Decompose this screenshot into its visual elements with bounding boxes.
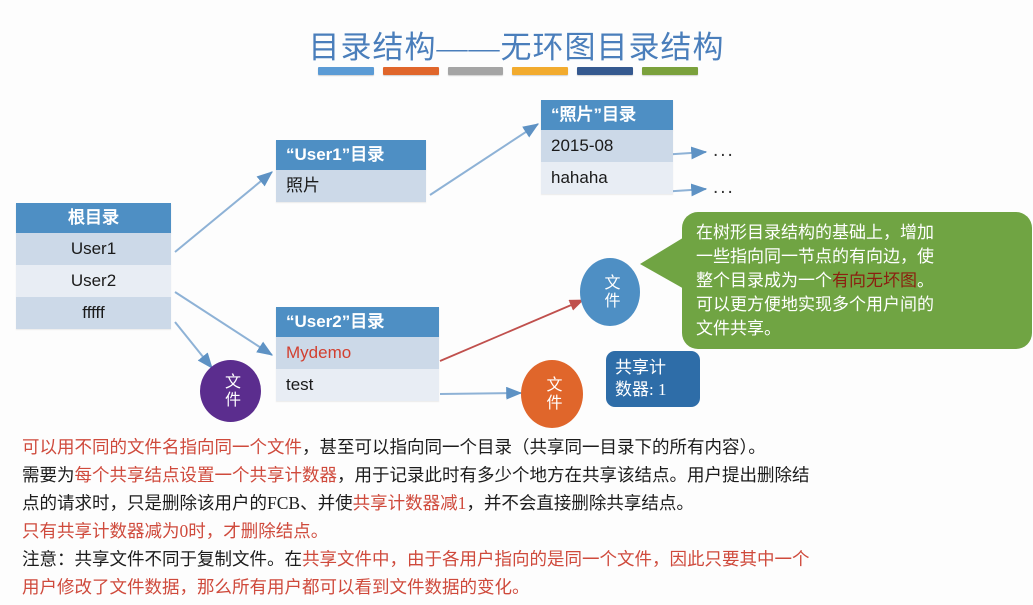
notes-line-2-black-a: 需要为 bbox=[22, 465, 75, 485]
accent-bar-1 bbox=[318, 67, 374, 75]
ellipsis-node-2: ... bbox=[713, 183, 735, 193]
callout-line-3-pre: 整个目录成为一个 bbox=[696, 271, 832, 290]
ellipsis-node-1: ... bbox=[713, 146, 735, 156]
title-accent-bars bbox=[318, 67, 698, 76]
notes-line-6-red: 用户修改了文件数据，那么所有用户都可以看到文件数据的变化。 bbox=[22, 577, 530, 597]
notes-paragraph: 可以用不同的文件名指向同一个文件，甚至可以指向同一个目录（共享同一目录下的所有内… bbox=[22, 433, 1017, 601]
purple-file-label: 文件 bbox=[222, 373, 239, 409]
notes-line-4-red: 只有共享计数器减为0时，才删除结点。 bbox=[22, 521, 328, 541]
callout-bubble: 在树形目录结构的基础上，增加 一些指向同一节点的有向边，使 整个目录成为一个有向… bbox=[682, 212, 1032, 349]
notes-line-2-black-b: ，用于记录此时有多少个地方在共享该结点。用户提出删除结 bbox=[337, 465, 810, 485]
notes-line-2-red: 每个共享结点设置一个共享计数器 bbox=[75, 465, 338, 485]
photo-directory-row-2015-08[interactable]: 2015-08 bbox=[541, 130, 673, 162]
notes-line-3-black-a: 点的请求时，只是删除该用户的FCB、并使 bbox=[22, 493, 353, 513]
accent-bar-2 bbox=[383, 67, 439, 75]
callout-highlight-term: 有向无坏图 bbox=[832, 271, 917, 290]
notes-line-6: 用户修改了文件数据，那么所有用户都可以看到文件数据的变化。 bbox=[22, 573, 1017, 601]
notes-line-4: 只有共享计数器减为0时，才删除结点。 bbox=[22, 517, 1017, 545]
root-directory-header: 根目录 bbox=[16, 203, 171, 233]
blue-file-label: 文件 bbox=[602, 274, 619, 310]
callout-line-3: 整个目录成为一个有向无坏图。 bbox=[696, 269, 1020, 293]
notes-line-3-black-b: ，并不会直接删除共享结点。 bbox=[466, 493, 694, 513]
callout-line-4: 可以更方便地实现多个用户间的 bbox=[696, 293, 1020, 317]
page-title: 目录结构——无环图目录结构 bbox=[0, 22, 1033, 67]
callout-line-1: 在树形目录结构的基础上，增加 bbox=[696, 221, 1020, 245]
notes-line-1-red: 可以用不同的文件名指向同一个文件 bbox=[22, 437, 302, 457]
notes-line-2: 需要为每个共享结点设置一个共享计数器，用于记录此时有多少个地方在共享该结点。用户… bbox=[22, 461, 1017, 489]
photo-directory-header: “照片”目录 bbox=[541, 100, 673, 130]
orange-file-label: 文件 bbox=[544, 376, 561, 412]
notes-line-1: 可以用不同的文件名指向同一个文件，甚至可以指向同一个目录（共享同一目录下的所有内… bbox=[22, 433, 1017, 461]
slide-canvas: 目录结构——无环图目录结构 bbox=[0, 0, 1033, 605]
accent-bar-6 bbox=[642, 67, 698, 75]
accent-bar-5 bbox=[577, 67, 633, 75]
notes-line-5: 注意：共享文件不同于复制文件。在共享文件中，由于各用户指向的是同一个文件，因此只… bbox=[22, 545, 1017, 573]
user2-directory-row-mydemo[interactable]: Mydemo bbox=[276, 337, 439, 369]
notes-line-5-red: 共享文件中，由于各用户指向的是同一个文件，因此只要其中一个 bbox=[302, 549, 810, 569]
user1-directory-box: “User1”目录 照片 bbox=[276, 140, 426, 202]
orange-file-node[interactable]: 文件 bbox=[521, 360, 583, 428]
user1-directory-header: “User1”目录 bbox=[276, 140, 426, 170]
user2-directory-box: “User2”目录 Mydemo test bbox=[276, 307, 439, 401]
notes-line-3-red: 共享计数器减1 bbox=[353, 493, 467, 513]
user2-directory-header: “User2”目录 bbox=[276, 307, 439, 337]
notes-line-1-black: ，甚至可以指向同一个目录（共享同一目录下的所有内容）。 bbox=[302, 437, 766, 457]
callout-line-2: 一些指向同一节点的有向边，使 bbox=[696, 245, 1020, 269]
notes-line-5-black: 注意：共享文件不同于复制文件。在 bbox=[22, 549, 302, 569]
root-directory-box: 根目录 User1 User2 fffff bbox=[16, 203, 171, 329]
share-counter-badge: 共享计 数器: 1 bbox=[606, 351, 700, 407]
blue-shared-file-node[interactable]: 文件 bbox=[580, 258, 640, 326]
photo-directory-box: “照片”目录 2015-08 hahaha bbox=[541, 100, 673, 194]
photo-directory-row-hahaha[interactable]: hahaha bbox=[541, 162, 673, 194]
root-directory-row-user2[interactable]: User2 bbox=[16, 265, 171, 297]
callout-line-5: 文件共享。 bbox=[696, 317, 1020, 341]
root-directory-row-user1[interactable]: User1 bbox=[16, 233, 171, 265]
notes-line-3: 点的请求时，只是删除该用户的FCB、并使共享计数器减1，并不会直接删除共享结点。 bbox=[22, 489, 1017, 517]
root-directory-row-fffff[interactable]: fffff bbox=[16, 297, 171, 329]
accent-bar-3 bbox=[448, 67, 504, 75]
user2-directory-row-test[interactable]: test bbox=[276, 369, 439, 401]
accent-bar-4 bbox=[512, 67, 568, 75]
purple-file-node[interactable]: 文件 bbox=[200, 360, 261, 422]
callout-line-3-post: 。 bbox=[917, 271, 934, 290]
user1-directory-row-photos[interactable]: 照片 bbox=[276, 170, 426, 202]
